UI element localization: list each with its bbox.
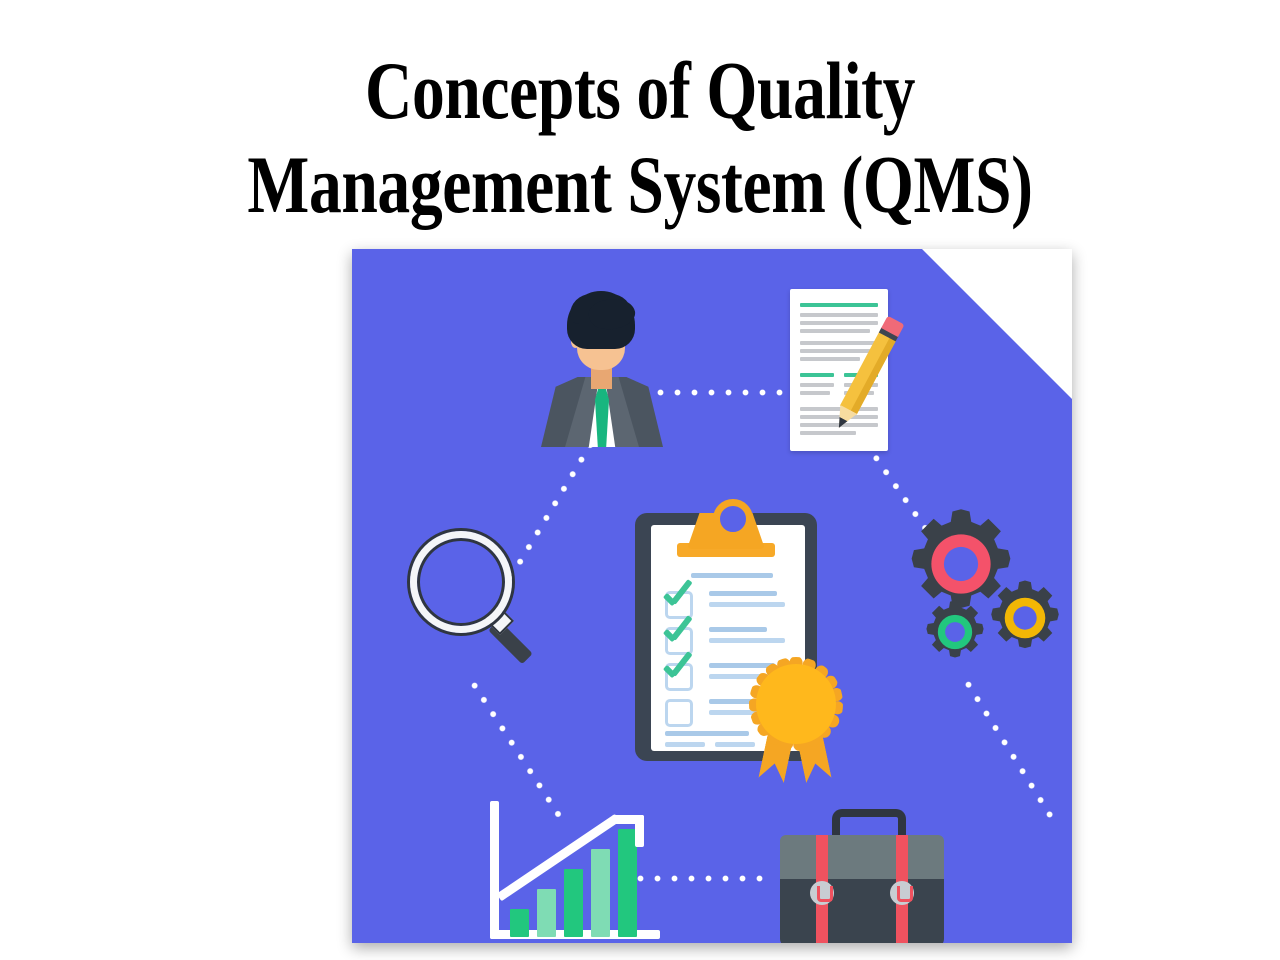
- connector-businessman-to-document: [652, 388, 798, 397]
- briefcase-buckle: [890, 881, 914, 905]
- chart-bar: [510, 909, 529, 937]
- briefcase-buckle: [810, 881, 834, 905]
- magnifier-icon: [410, 531, 520, 671]
- growth-chart-icon: [482, 801, 662, 943]
- gears-icon: [904, 507, 1064, 677]
- gear-medium-icon: [986, 579, 1064, 657]
- chart-bar: [564, 869, 583, 937]
- chart-arrow-head-icon: [612, 815, 646, 849]
- connector-gears-to-briefcase: [960, 675, 1058, 824]
- gear-medium-shape: [986, 579, 1064, 657]
- chart-bar: [537, 889, 556, 937]
- checkmark-icon: [665, 655, 695, 677]
- award-ribbon-icon: [747, 657, 851, 785]
- checklist-checkbox-empty: [665, 699, 693, 727]
- document-icon: [790, 289, 920, 459]
- chart-y-axis: [490, 801, 499, 939]
- businessman-icon: [537, 291, 667, 446]
- briefcase-icon: [772, 809, 952, 943]
- checkmark-icon: [665, 583, 695, 605]
- illustration-panel: [352, 249, 1072, 943]
- chart-bar: [591, 849, 610, 937]
- gear-small-icon: [922, 599, 988, 665]
- checkmark-icon: [665, 619, 695, 641]
- panel-corner-fold: [922, 249, 1072, 399]
- page-title: Concepts of Quality Management System (Q…: [128, 44, 1152, 232]
- gear-small-shape: [922, 599, 988, 665]
- connector-chart-to-magnifier: [466, 676, 564, 820]
